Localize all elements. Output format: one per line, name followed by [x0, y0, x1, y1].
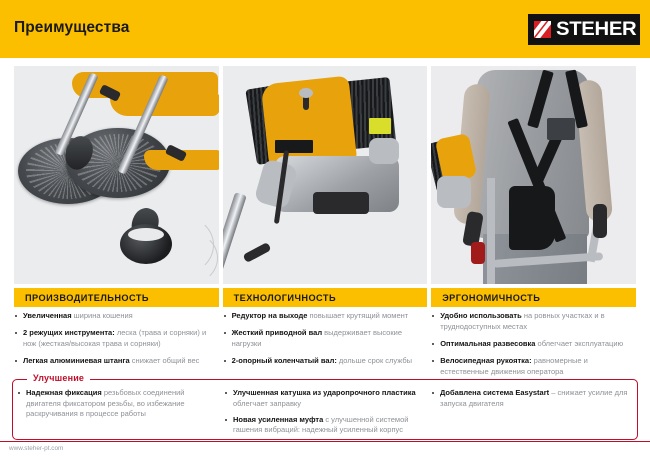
feature-list: Удобно использовать на ровных участках и… — [431, 311, 636, 377]
list-item-bold: Легкая алюминиевая штанга — [23, 356, 130, 365]
list-item-bold: Удобно использовать — [440, 311, 522, 320]
column-heading-ergonomics: ЭРГОНОМИЧНОСТЬ — [431, 288, 636, 307]
list-item: Удобно использовать на ровных участках и… — [431, 311, 636, 332]
improvement-columns: Надежная фиксация резьбовых соединений д… — [17, 388, 635, 442]
list-item: Жесткий приводной вал выдерживает высоки… — [223, 328, 428, 349]
feature-list: Увеличенная ширина кошения 2 режущих инс… — [14, 311, 219, 367]
feature-list: Редуктор на выходе повышает крутящий мом… — [223, 311, 428, 367]
column-heading-label: ПРОИЗВОДИТЕЛЬНОСТЬ — [25, 293, 149, 303]
page-header: Преимущества STEHER — [0, 0, 650, 58]
list-item-bold: Надежная фиксация — [26, 388, 102, 397]
footer-website-url[interactable]: www.steher-pt.com — [9, 445, 63, 452]
list-item: Надежная фиксация резьбовых соединений д… — [17, 388, 220, 420]
improvement-column-1: Надежная фиксация резьбовых соединений д… — [17, 388, 220, 442]
list-item-bold: Велосипедная рукоятка: — [440, 356, 531, 365]
list-item: Велосипедная рукоятка: равномерные и ест… — [431, 356, 636, 377]
improvement-list: Улучшенная катушка из ударопрочного плас… — [224, 388, 427, 436]
list-item-bold: Жесткий приводной вал — [232, 328, 322, 337]
list-item: Увеличенная ширина кошения — [14, 311, 219, 322]
improvement-list: Добавлена система Easystart – снижает ус… — [431, 388, 634, 409]
column-heading-label: ЭРГОНОМИЧНОСТЬ — [442, 293, 540, 303]
list-item: 2 режущих инструмента: леска (трава и со… — [14, 328, 219, 349]
column-heading-technology: ТЕХНОЛОГИЧНОСТЬ — [223, 288, 428, 307]
photo-cutting-tools — [14, 66, 219, 284]
list-item-rest: дольше срок службы — [337, 356, 412, 365]
list-item-bold: Добавлена система Easystart — [440, 388, 549, 397]
footer-divider — [0, 441, 650, 442]
list-item: Легкая алюминиевая штанга снижает общий … — [14, 356, 219, 367]
list-item-bold: 2 режущих инструмента: — [23, 328, 115, 337]
brand-logo-text: STEHER — [556, 20, 636, 40]
list-item-bold: 2-опорный коленчатый вал: — [232, 356, 337, 365]
column-heading-performance: ПРОИЗВОДИТЕЛЬНОСТЬ — [14, 288, 219, 307]
feature-column-ergonomics: Удобно использовать на ровных участках и… — [431, 311, 636, 384]
list-item-bold: Увеличенная — [23, 311, 72, 320]
improvement-list: Надежная фиксация резьбовых соединений д… — [17, 388, 220, 420]
photo-engine — [223, 66, 428, 284]
column-heading-bars: ПРОИЗВОДИТЕЛЬНОСТЬ ТЕХНОЛОГИЧНОСТЬ ЭРГОН… — [14, 288, 636, 307]
brand-logo: STEHER — [528, 14, 640, 45]
list-item: Редуктор на выходе повышает крутящий мом… — [223, 311, 428, 322]
steher-slash-mark-icon — [534, 21, 551, 38]
list-item: Улучшенная катушка из ударопрочного плас… — [224, 388, 427, 409]
list-item-rest: ширина кошения — [72, 311, 133, 320]
list-item-bold: Новая усиленная муфта — [233, 415, 323, 424]
list-item-bold: Улучшенная катушка из ударопрочного плас… — [233, 388, 416, 397]
improvement-panel: Улучшение Надежная фиксация резьбовых со… — [12, 379, 638, 440]
list-item-rest: облегчает заправку — [233, 399, 301, 408]
column-heading-label: ТЕХНОЛОГИЧНОСТЬ — [234, 293, 336, 303]
list-item: Добавлена система Easystart – снижает ус… — [431, 388, 634, 409]
list-item-bold: Редуктор на выходе — [232, 311, 308, 320]
slide-root: Преимущества STEHER — [0, 0, 650, 459]
feature-column-technology: Редуктор на выходе повышает крутящий мом… — [223, 311, 428, 384]
list-item-rest: облегчает эксплуатацию — [535, 339, 623, 348]
improvement-column-2: Улучшенная катушка из ударопрочного плас… — [224, 388, 427, 442]
list-item-rest: снижает общий вес — [130, 356, 200, 365]
improvement-title: Улучшение — [27, 373, 90, 383]
photo-row — [14, 66, 636, 284]
list-item: Новая усиленная муфта с улучшенной систе… — [224, 415, 427, 436]
list-item-bold: Оптимальная развесовка — [440, 339, 535, 348]
improvement-column-3: Добавлена система Easystart – снижает ус… — [431, 388, 634, 442]
page-title: Преимущества — [14, 19, 130, 37]
photo-operator-harness — [431, 66, 636, 284]
list-item: 2-опорный коленчатый вал: дольше срок сл… — [223, 356, 428, 367]
list-item: Оптимальная развесовка облегчает эксплуа… — [431, 339, 636, 350]
list-item-rest: повышает крутящий момент — [307, 311, 408, 320]
feature-columns: Увеличенная ширина кошения 2 режущих инс… — [14, 311, 636, 384]
